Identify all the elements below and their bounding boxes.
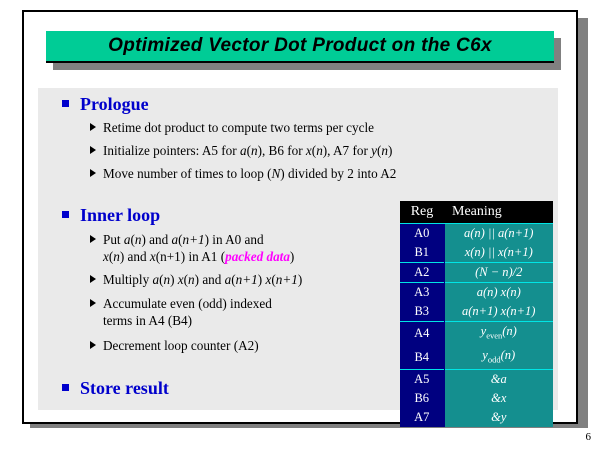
table-row: A0a(n) || a(n+1) — [400, 224, 553, 244]
square-bullet-icon — [62, 384, 69, 391]
square-bullet-icon — [62, 211, 69, 218]
section-label: Prologue — [80, 94, 149, 115]
register-meaning-cell: &a — [444, 370, 553, 390]
list-item-text: Move number of times to loop (N) divided… — [103, 165, 396, 182]
triangle-bullet-icon — [90, 235, 96, 243]
triangle-bullet-icon — [90, 275, 96, 283]
table-row: A2(N − n)/2 — [400, 263, 553, 283]
section-heading-inner-loop: Inner loop — [62, 205, 160, 226]
register-meaning-cell: &x — [444, 389, 553, 408]
register-meaning-cell: &y — [444, 408, 553, 427]
register-name-cell: A7 — [400, 408, 444, 427]
register-meaning-cell: x(n) || x(n+1) — [444, 243, 553, 263]
register-table-body: A0a(n) || a(n+1)B1x(n) || x(n+1)A2(N − n… — [400, 224, 553, 428]
table-row: B3a(n+1) x(n+1) — [400, 302, 553, 322]
table-row: B1x(n) || x(n+1) — [400, 243, 553, 263]
triangle-bullet-icon — [90, 299, 96, 307]
table-row: B6&x — [400, 389, 553, 408]
square-bullet-icon — [62, 100, 69, 107]
list-item: Retime dot product to compute two terms … — [90, 119, 374, 136]
list-item-text: Decrement loop counter (A2) — [103, 337, 259, 354]
table-row: B4yodd(n) — [400, 346, 553, 370]
list-item-text: Initialize pointers: A5 for a(n), B6 for… — [103, 142, 392, 159]
table-row: A7&y — [400, 408, 553, 427]
table-header-row: Reg Meaning — [400, 201, 553, 224]
register-name-cell: A4 — [400, 322, 444, 346]
list-item: Put a(n) and a(n+1) in A0 andx(n) and x(… — [90, 231, 294, 265]
list-item: Initialize pointers: A5 for a(n), B6 for… — [90, 142, 392, 159]
section-heading-store-result: Store result — [62, 378, 169, 399]
section-heading-prologue: Prologue — [62, 94, 149, 115]
register-table: Reg Meaning A0a(n) || a(n+1)B1x(n) || x(… — [400, 201, 553, 427]
triangle-bullet-icon — [90, 169, 96, 177]
register-meaning-cell: a(n) x(n) — [444, 283, 553, 303]
list-item: Decrement loop counter (A2) — [90, 337, 259, 354]
register-name-cell: A5 — [400, 370, 444, 390]
register-meaning-cell: (N − n)/2 — [444, 263, 553, 283]
register-meaning-cell: a(n+1) x(n+1) — [444, 302, 553, 322]
triangle-bullet-icon — [90, 146, 96, 154]
register-name-cell: A2 — [400, 263, 444, 283]
list-item: Move number of times to loop (N) divided… — [90, 165, 396, 182]
table-row: A3a(n) x(n) — [400, 283, 553, 303]
page-title: Optimized Vector Dot Product on the C6x — [108, 35, 492, 57]
section-label: Store result — [80, 378, 169, 399]
list-item-text: Accumulate even (odd) indexedterms in A4… — [103, 295, 272, 329]
list-item: Multiply a(n) x(n) and a(n+1) x(n+1) — [90, 271, 302, 288]
register-name-cell: B4 — [400, 346, 444, 370]
title-banner: Optimized Vector Dot Product on the C6x — [46, 31, 554, 63]
triangle-bullet-icon — [90, 341, 96, 349]
register-name-cell: B1 — [400, 243, 444, 263]
register-meaning-cell: yodd(n) — [444, 346, 553, 370]
register-name-cell: A3 — [400, 283, 444, 303]
page-number: 6 — [586, 431, 592, 443]
table-row: A5&a — [400, 370, 553, 390]
table-row: A4yeven(n) — [400, 322, 553, 346]
list-item-text: Put a(n) and a(n+1) in A0 andx(n) and x(… — [103, 231, 294, 265]
column-header-reg: Reg — [400, 201, 444, 224]
column-header-meaning: Meaning — [444, 201, 553, 224]
list-item-text: Retime dot product to compute two terms … — [103, 119, 374, 136]
register-name-cell: B6 — [400, 389, 444, 408]
register-meaning-cell: yeven(n) — [444, 322, 553, 346]
register-name-cell: B3 — [400, 302, 444, 322]
list-item: Accumulate even (odd) indexedterms in A4… — [90, 295, 272, 329]
register-meaning-cell: a(n) || a(n+1) — [444, 224, 553, 244]
triangle-bullet-icon — [90, 123, 96, 131]
list-item-text: Multiply a(n) x(n) and a(n+1) x(n+1) — [103, 271, 302, 288]
register-name-cell: A0 — [400, 224, 444, 244]
section-label: Inner loop — [80, 205, 160, 226]
